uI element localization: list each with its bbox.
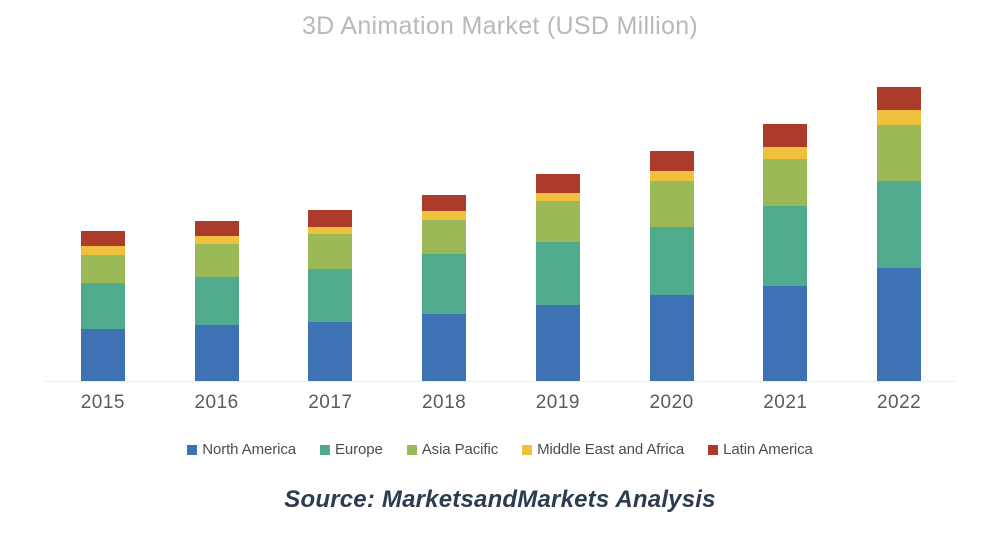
x-tick-label-2016: 2016 xyxy=(172,392,262,414)
bar-segment[interactable] xyxy=(308,322,352,381)
bar-segment[interactable] xyxy=(877,110,921,125)
legend-label: Middle East and Africa xyxy=(537,441,684,458)
bar-segment[interactable] xyxy=(195,325,239,381)
x-tick-label-2019: 2019 xyxy=(513,392,603,414)
bar-segment[interactable] xyxy=(195,221,239,236)
bar-segment[interactable] xyxy=(422,211,466,220)
legend-swatch-icon xyxy=(320,445,330,455)
x-axis-baseline xyxy=(45,381,955,382)
x-axis-tick-labels: 20152016201720182019202020212022 xyxy=(45,392,955,416)
bar-segment[interactable] xyxy=(763,124,807,146)
legend-item-middle-east-and-africa[interactable]: Middle East and Africa xyxy=(522,441,684,458)
legend-item-asia-pacific[interactable]: Asia Pacific xyxy=(407,441,498,458)
legend-item-latin-america[interactable]: Latin America xyxy=(708,441,813,458)
bar-segment[interactable] xyxy=(877,125,921,180)
bar-segment[interactable] xyxy=(536,305,580,381)
x-tick-label-2020: 2020 xyxy=(627,392,717,414)
legend-label: Europe xyxy=(335,441,383,458)
legend-swatch-icon xyxy=(708,445,718,455)
bar-segment[interactable] xyxy=(81,283,125,328)
legend-item-europe[interactable]: Europe xyxy=(320,441,383,458)
bar-group-2018[interactable] xyxy=(422,195,466,381)
source-caption: Source: MarketsandMarkets Analysis xyxy=(0,486,1000,514)
bar-segment[interactable] xyxy=(536,201,580,242)
bar-segment[interactable] xyxy=(763,159,807,206)
bar-segment[interactable] xyxy=(650,151,694,171)
bar-segment[interactable] xyxy=(81,255,125,283)
x-tick-label-2017: 2017 xyxy=(285,392,375,414)
bar-segment[interactable] xyxy=(422,195,466,211)
bar-group-2016[interactable] xyxy=(195,221,239,381)
legend-swatch-icon xyxy=(407,445,417,455)
bar-segment[interactable] xyxy=(650,295,694,381)
bar-segment[interactable] xyxy=(308,227,352,234)
bar-segment[interactable] xyxy=(536,242,580,304)
bar-segment[interactable] xyxy=(81,246,125,255)
bar-group-2019[interactable] xyxy=(536,174,580,381)
bar-segment[interactable] xyxy=(308,269,352,321)
bar-segment[interactable] xyxy=(422,254,466,313)
bar-segment[interactable] xyxy=(650,171,694,181)
bar-segment[interactable] xyxy=(877,268,921,381)
legend-item-north-america[interactable]: North America xyxy=(187,441,296,458)
bar-group-2022[interactable] xyxy=(877,87,921,381)
legend-swatch-icon xyxy=(522,445,532,455)
bar-segment[interactable] xyxy=(422,220,466,254)
bar-segment[interactable] xyxy=(877,87,921,110)
chart-figure: 3D Animation Market (USD Million) 201520… xyxy=(0,0,1000,552)
chart-legend: North AmericaEuropeAsia PacificMiddle Ea… xyxy=(0,441,1000,458)
bar-segment[interactable] xyxy=(308,234,352,269)
legend-label: Asia Pacific xyxy=(422,441,498,458)
x-tick-label-2021: 2021 xyxy=(740,392,830,414)
chart-title: 3D Animation Market (USD Million) xyxy=(0,12,1000,41)
bar-segment[interactable] xyxy=(763,286,807,381)
plot-area xyxy=(45,70,955,382)
bar-segment[interactable] xyxy=(422,314,466,381)
bar-segment[interactable] xyxy=(650,181,694,227)
bar-segment[interactable] xyxy=(81,231,125,246)
bar-segment[interactable] xyxy=(877,181,921,269)
legend-swatch-icon xyxy=(187,445,197,455)
bar-segment[interactable] xyxy=(195,236,239,244)
bar-segment[interactable] xyxy=(763,206,807,287)
bar-segment[interactable] xyxy=(308,210,352,227)
legend-label: Latin America xyxy=(723,441,813,458)
bar-segment[interactable] xyxy=(536,193,580,201)
bar-group-2017[interactable] xyxy=(308,210,352,381)
bar-segment[interactable] xyxy=(536,174,580,193)
bar-group-2015[interactable] xyxy=(81,231,125,381)
x-tick-label-2015: 2015 xyxy=(58,392,148,414)
bar-group-2020[interactable] xyxy=(650,151,694,381)
bar-segment[interactable] xyxy=(763,147,807,159)
bar-segment[interactable] xyxy=(650,227,694,295)
bar-segment[interactable] xyxy=(81,329,125,381)
legend-label: North America xyxy=(202,441,296,458)
bar-group-2021[interactable] xyxy=(763,124,807,381)
x-tick-label-2018: 2018 xyxy=(399,392,489,414)
bar-segment[interactable] xyxy=(195,277,239,324)
x-tick-label-2022: 2022 xyxy=(854,392,944,414)
bar-segment[interactable] xyxy=(195,244,239,277)
